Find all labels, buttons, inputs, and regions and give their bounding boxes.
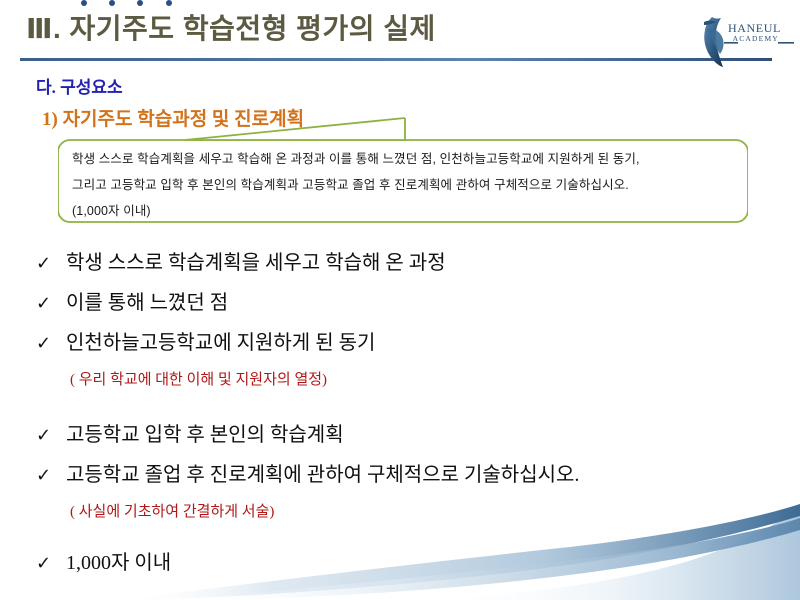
list-item-label: 이를 통해 느꼈던 점 (66, 288, 228, 318)
title-emphasized-term: 자기주도 (70, 13, 183, 44)
title-prefix: Ⅲ. (26, 13, 61, 44)
check-icon: ✓ (36, 328, 66, 358)
list-item-label: 고등학교 입학 후 본인의 학습계획 (66, 420, 344, 450)
logo-wordmark: HANEUL ACADEMY (728, 22, 781, 42)
callout-box: 학생 스스로 학습계획을 세우고 학습해 온 과정과 이를 통해 느꼈던 점, … (58, 112, 748, 224)
logo-name-main: HANEUL (728, 22, 781, 35)
callout-text: 학생 스스로 학습계획을 세우고 학습해 온 과정과 이를 통해 느꼈던 점, … (72, 146, 727, 224)
presentation-slide: Ⅲ. 자기주도 학습전형 평가의 실제 HAN (0, 0, 800, 600)
list-item-label: 학생 스스로 학습계획을 세우고 학습해 온 과정 (66, 248, 446, 278)
title-rest: 학습전형 평가의 실제 (183, 13, 436, 44)
callout-line: 학생 스스로 학습계획을 세우고 학습해 온 과정과 이를 통해 느꼈던 점, … (72, 146, 727, 172)
list-item-note: ( 사실에 기초하여 간결하게 서술) (36, 500, 776, 534)
section-label: 다. 구성요소 (36, 73, 123, 98)
haneul-academy-logo: HANEUL ACADEMY (692, 12, 796, 68)
list-item: ✓ 고등학교 졸업 후 진로계획에 관하여 구체적으로 기술하십시오. (36, 460, 776, 500)
logo-name-sub: ACADEMY (728, 35, 781, 43)
list-item-label: 고등학교 졸업 후 진로계획에 관하여 구체적으로 기술하십시오. (66, 460, 579, 490)
check-icon: ✓ (36, 420, 66, 450)
callout-line: 그리고 고등학교 입학 후 본인의 학습계획과 고등학교 졸업 후 진로계획에 … (72, 172, 727, 198)
list-item: ✓ 고등학교 입학 후 본인의 학습계획 (36, 420, 776, 460)
check-icon: ✓ (36, 548, 66, 578)
list-item: ✓ 1,000자 이내 (36, 548, 776, 588)
list-item: ✓ 학생 스스로 학습계획을 세우고 학습해 온 과정 (36, 248, 776, 288)
spacer (36, 402, 776, 420)
page-title: Ⅲ. 자기주도 학습전형 평가의 실제 (26, 14, 436, 45)
title-emphasis-text: 자기주도 (70, 13, 175, 44)
callout-line: (1,000자 이내) (72, 198, 727, 224)
list-item: ✓ 이를 통해 느꼈던 점 (36, 288, 776, 328)
bullet-list: ✓ 학생 스스로 학습계획을 세우고 학습해 온 과정 ✓ 이를 통해 느꼈던 … (36, 248, 776, 588)
list-item-note: ( 우리 학교에 대한 이해 및 지원자의 열정) (36, 368, 776, 402)
list-item: ✓ 인천하늘고등학교에 지원하게 된 동기 (36, 328, 776, 368)
emphasis-dots-icon (70, 0, 183, 6)
spacer (36, 534, 776, 548)
list-item-label: 인천하늘고등학교에 지원하게 된 동기 (66, 328, 375, 358)
check-icon: ✓ (36, 248, 66, 278)
check-icon: ✓ (36, 460, 66, 490)
note-label: ( 우리 학교에 대한 이해 및 지원자의 열정) (70, 372, 327, 388)
list-item-label: 1,000자 이내 (66, 548, 171, 578)
note-label: ( 사실에 기초하여 간결하게 서술) (70, 504, 274, 520)
title-divider (20, 58, 772, 61)
check-icon: ✓ (36, 288, 66, 318)
